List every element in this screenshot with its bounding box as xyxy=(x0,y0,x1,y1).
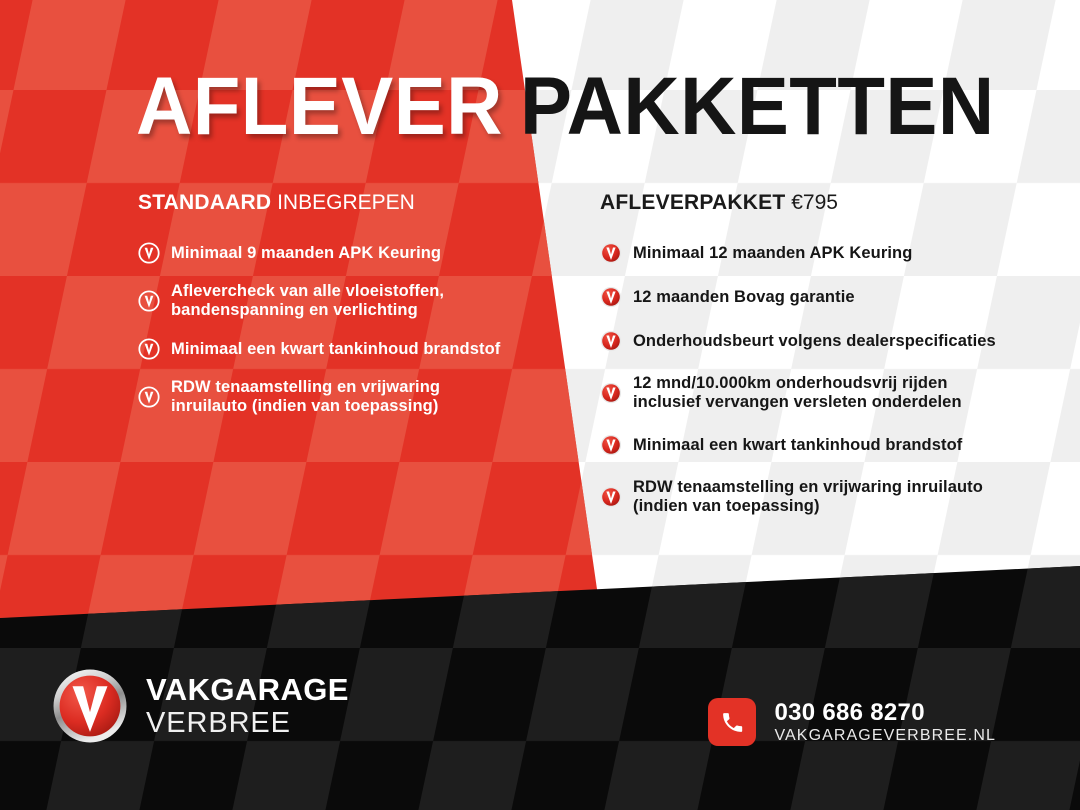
poster-headline: AFLEVER PAKKETTEN xyxy=(0,64,1080,164)
right-title-strong: AFLEVERPAKKET xyxy=(600,191,785,214)
list-item: Minimaal een kwart tankinhoud brandstof xyxy=(138,338,518,360)
list-item: 12 mnd/10.000km onderhoudsvrij rijden in… xyxy=(600,374,1010,412)
list-item-label: 12 maanden Bovag garantie xyxy=(633,288,855,307)
phone-icon[interactable] xyxy=(708,698,756,746)
vakgarage-check-icon xyxy=(600,486,622,508)
list-item-label: Minimaal een kwart tankinhoud brandstof xyxy=(171,340,500,359)
list-item-label: Minimaal 12 maanden APK Keuring xyxy=(633,244,912,263)
vakgarage-check-icon xyxy=(138,386,160,408)
vakgarage-check-icon xyxy=(600,330,622,352)
vakgarage-check-icon xyxy=(138,242,160,264)
vakgarage-check-icon xyxy=(138,290,160,312)
list-item-label: RDW tenaamstelling en vrijwaring inruila… xyxy=(633,478,1010,516)
website-url[interactable]: VAKGARAGEVERBREE.NL xyxy=(774,726,996,746)
vakgarage-check-icon xyxy=(138,338,160,360)
footer-contact-block[interactable]: 030 686 8270 VAKGARAGEVERBREE.NL xyxy=(708,698,996,746)
vakgarage-check-icon xyxy=(600,242,622,264)
left-column-title: STANDAARD INBEGREPEN xyxy=(138,190,518,216)
vakgarage-check-icon xyxy=(600,434,622,456)
list-item-label: 12 mnd/10.000km onderhoudsvrij rijden in… xyxy=(633,374,1010,412)
list-item-label: Minimaal 9 maanden APK Keuring xyxy=(171,244,441,263)
vakgarage-check-icon xyxy=(600,382,622,404)
headline-word-aflever: AFLEVER xyxy=(136,64,503,150)
afleverpakket-column: AFLEVERPAKKET €795 Minimaal 12 maanden A… xyxy=(600,190,1010,538)
list-item: Onderhoudsbeurt volgens dealerspecificat… xyxy=(600,330,1010,352)
list-item: Aflevercheck van alle vloeistoffen, band… xyxy=(138,282,518,320)
standaard-inbegrepen-column: STANDAARD INBEGREPEN Minimaal 9 maanden … xyxy=(138,190,518,434)
brand-name-line2: VERBREE xyxy=(146,707,349,740)
phone-number[interactable]: 030 686 8270 xyxy=(774,699,996,726)
vakgarage-verbree-logo: VAKGARAGE VERBREE xyxy=(52,668,349,744)
list-item: RDW tenaamstelling en vrijwaring inruila… xyxy=(600,478,1010,516)
left-title-light: INBEGREPEN xyxy=(277,191,415,214)
list-item: Minimaal een kwart tankinhoud brandstof xyxy=(600,434,1010,456)
logo-wordmark: VAKGARAGE VERBREE xyxy=(146,673,349,740)
list-item: 12 maanden Bovag garantie xyxy=(600,286,1010,308)
right-bullet-list: Minimaal 12 maanden APK Keuring12 maande… xyxy=(600,242,1010,516)
list-item-label: RDW tenaamstelling en vrijwaring inruila… xyxy=(171,378,518,416)
right-title-price: €795 xyxy=(791,191,838,214)
headline-word-pakketten: PAKKETTEN xyxy=(520,64,995,150)
list-item: Minimaal 12 maanden APK Keuring xyxy=(600,242,1010,264)
list-item-label: Onderhoudsbeurt volgens dealerspecificat… xyxy=(633,332,996,351)
right-column-title: AFLEVERPAKKET €795 xyxy=(600,190,1010,216)
list-item: Minimaal 9 maanden APK Keuring xyxy=(138,242,518,264)
brand-name-line1: VAKGARAGE xyxy=(146,673,349,707)
aflever-pakketten-poster: AFLEVER PAKKETTEN STANDAARD INBEGREPEN M… xyxy=(0,0,1080,810)
left-title-strong: STANDAARD xyxy=(138,191,271,214)
list-item-label: Minimaal een kwart tankinhoud brandstof xyxy=(633,436,962,455)
vakgarage-v-logo-icon xyxy=(52,668,128,744)
list-item-label: Aflevercheck van alle vloeistoffen, band… xyxy=(171,282,518,320)
left-bullet-list: Minimaal 9 maanden APK KeuringAfleverche… xyxy=(138,242,518,416)
list-item: RDW tenaamstelling en vrijwaring inruila… xyxy=(138,378,518,416)
vakgarage-check-icon xyxy=(600,286,622,308)
contact-details: 030 686 8270 VAKGARAGEVERBREE.NL xyxy=(774,699,996,746)
